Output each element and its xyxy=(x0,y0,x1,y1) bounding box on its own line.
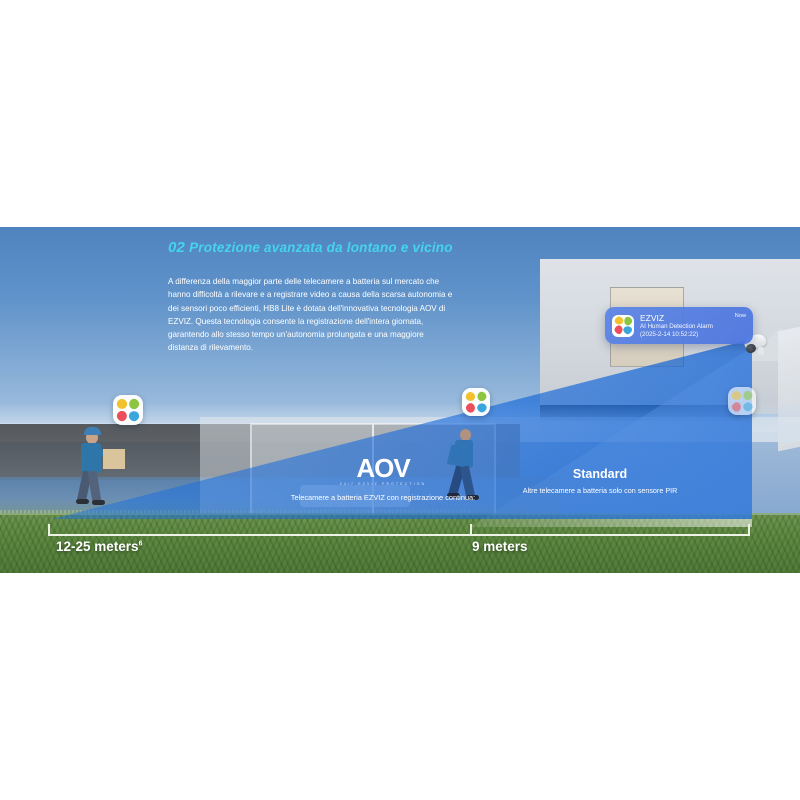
ezviz-pinwheel-icon xyxy=(465,391,486,412)
page-root: 02Protezione avanzata da lontano e vicin… xyxy=(0,0,800,800)
person-cap xyxy=(84,427,101,435)
ezviz-pinwheel-icon xyxy=(731,390,752,411)
pinwheel-petal-green xyxy=(475,390,488,403)
pinwheel-petal-blue xyxy=(475,401,488,414)
standard-label-group: Standard Altre telecamere a batteria sol… xyxy=(500,467,700,496)
camera-mount xyxy=(758,347,764,355)
section-heading: 02Protezione avanzata da lontano e vicin… xyxy=(168,239,468,256)
aov-logo-tagline: 24/7 EZVIZ PROTECTION xyxy=(278,482,488,486)
pinwheel-petal-green xyxy=(741,389,754,402)
copy-block: 02Protezione avanzata da lontano e vicin… xyxy=(168,239,468,355)
bracket-tick-left xyxy=(48,524,50,536)
measurement-left-footnote: 6 xyxy=(139,541,143,548)
pinwheel-petal-green xyxy=(127,397,141,411)
bracket-tick-middle xyxy=(470,524,472,536)
pinwheel-petal-blue xyxy=(741,400,754,413)
delivery-box xyxy=(103,449,125,469)
person-leg-front xyxy=(88,470,102,502)
ezviz-app-icon-right[interactable] xyxy=(728,387,756,415)
measurement-label-right: 9 meters xyxy=(472,539,528,554)
notification-timestamp: (2025-2-14 10:52:22) xyxy=(640,331,746,339)
person-shoe-back xyxy=(76,499,89,504)
measurement-bracket xyxy=(48,524,750,536)
pinwheel-petal-blue xyxy=(622,325,633,336)
pinwheel-petal-blue xyxy=(127,409,141,423)
ezviz-app-icon-left[interactable] xyxy=(113,395,143,425)
bracket-tick-right xyxy=(748,524,750,536)
person-shoe-front xyxy=(92,500,105,505)
delivery-person-with-box xyxy=(62,417,122,509)
pinwheel-petal-yellow xyxy=(115,397,129,411)
section-title: Protezione avanzata da lontano e vicino xyxy=(189,240,453,255)
pinwheel-petal-red xyxy=(730,400,743,413)
notification-time-label: Now xyxy=(735,313,746,319)
standard-title: Standard xyxy=(500,467,700,481)
aov-logo: AOV xyxy=(278,455,488,481)
ezviz-pinwheel-icon xyxy=(614,317,632,335)
pinwheel-petal-red xyxy=(613,325,624,336)
notification-message: AI Human Detection Alarm xyxy=(640,323,746,331)
pinwheel-petal-yellow xyxy=(464,390,477,403)
ezviz-pinwheel-icon xyxy=(117,399,140,422)
bracket-line xyxy=(48,534,750,536)
section-body-text: A differenza della maggior parte delle t… xyxy=(168,275,455,355)
notification-toast[interactable]: EZVIZ AI Human Detection Alarm (2025-2-1… xyxy=(605,307,753,344)
standard-caption: Altre telecamere a batteria solo con sen… xyxy=(500,486,700,496)
measurement-label-left: 12-25 meters6 xyxy=(56,539,142,554)
notification-app-icon xyxy=(612,315,634,337)
pinwheel-petal-red xyxy=(464,401,477,414)
notification-app-name: EZVIZ xyxy=(640,313,746,323)
ezviz-app-icon-center[interactable] xyxy=(462,388,490,416)
pinwheel-petal-red xyxy=(115,409,129,423)
section-number: 02 xyxy=(168,239,185,256)
hero-scene: 02Protezione avanzata da lontano e vicin… xyxy=(0,227,800,573)
aov-label-group: AOV 24/7 EZVIZ PROTECTION Telecamere a b… xyxy=(278,455,488,504)
aov-caption: Telecamere a batteria EZVIZ con registra… xyxy=(278,493,488,504)
measurement-left-value: 12-25 meters xyxy=(56,539,139,554)
notification-text-group: EZVIZ AI Human Detection Alarm (2025-2-1… xyxy=(640,313,746,339)
person-torso xyxy=(81,443,101,473)
pinwheel-petal-yellow xyxy=(730,389,743,402)
